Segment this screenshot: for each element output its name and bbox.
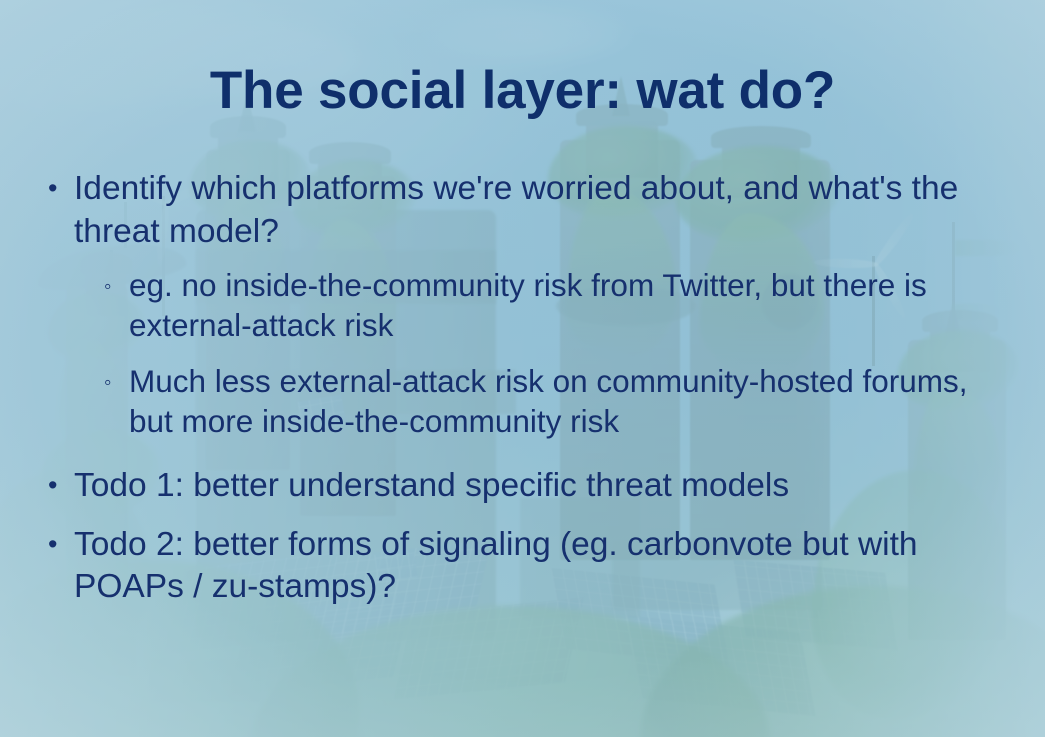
- spacer: [48, 347, 1015, 361]
- spacer: [48, 255, 1015, 265]
- bullet-text: Identify which platforms we're worried a…: [74, 168, 1015, 253]
- sub-bullet-marker-icon: ◦: [104, 361, 129, 441]
- sub-bullet-text: eg. no inside-the-community risk from Tw…: [129, 265, 1015, 345]
- bullet-list: • Identify which platforms we're worried…: [48, 168, 1015, 611]
- bullet-text: Todo 2: better forms of signaling (eg. c…: [74, 524, 1015, 609]
- bullet-marker-icon: •: [48, 465, 74, 508]
- bullet-marker-icon: •: [48, 168, 74, 253]
- spacer: [48, 443, 1015, 465]
- sub-bullet-text: Much less external-attack risk on commun…: [129, 361, 1015, 441]
- slide-content: The social layer: wat do? • Identify whi…: [0, 0, 1045, 737]
- presentation-slide: The social layer: wat do? • Identify whi…: [0, 0, 1045, 737]
- sub-bullet-item: ◦ Much less external-attack risk on comm…: [104, 361, 1015, 441]
- spacer: [48, 510, 1015, 524]
- sub-bullet-item: ◦ eg. no inside-the-community risk from …: [104, 265, 1015, 345]
- slide-title: The social layer: wat do?: [0, 63, 1045, 119]
- bullet-item: • Todo 1: better understand specific thr…: [48, 465, 1015, 508]
- sub-bullet-marker-icon: ◦: [104, 265, 129, 345]
- bullet-text: Todo 1: better understand specific threa…: [74, 465, 1015, 508]
- bullet-item: • Todo 2: better forms of signaling (eg.…: [48, 524, 1015, 609]
- bullet-marker-icon: •: [48, 524, 74, 609]
- bullet-item: • Identify which platforms we're worried…: [48, 168, 1015, 253]
